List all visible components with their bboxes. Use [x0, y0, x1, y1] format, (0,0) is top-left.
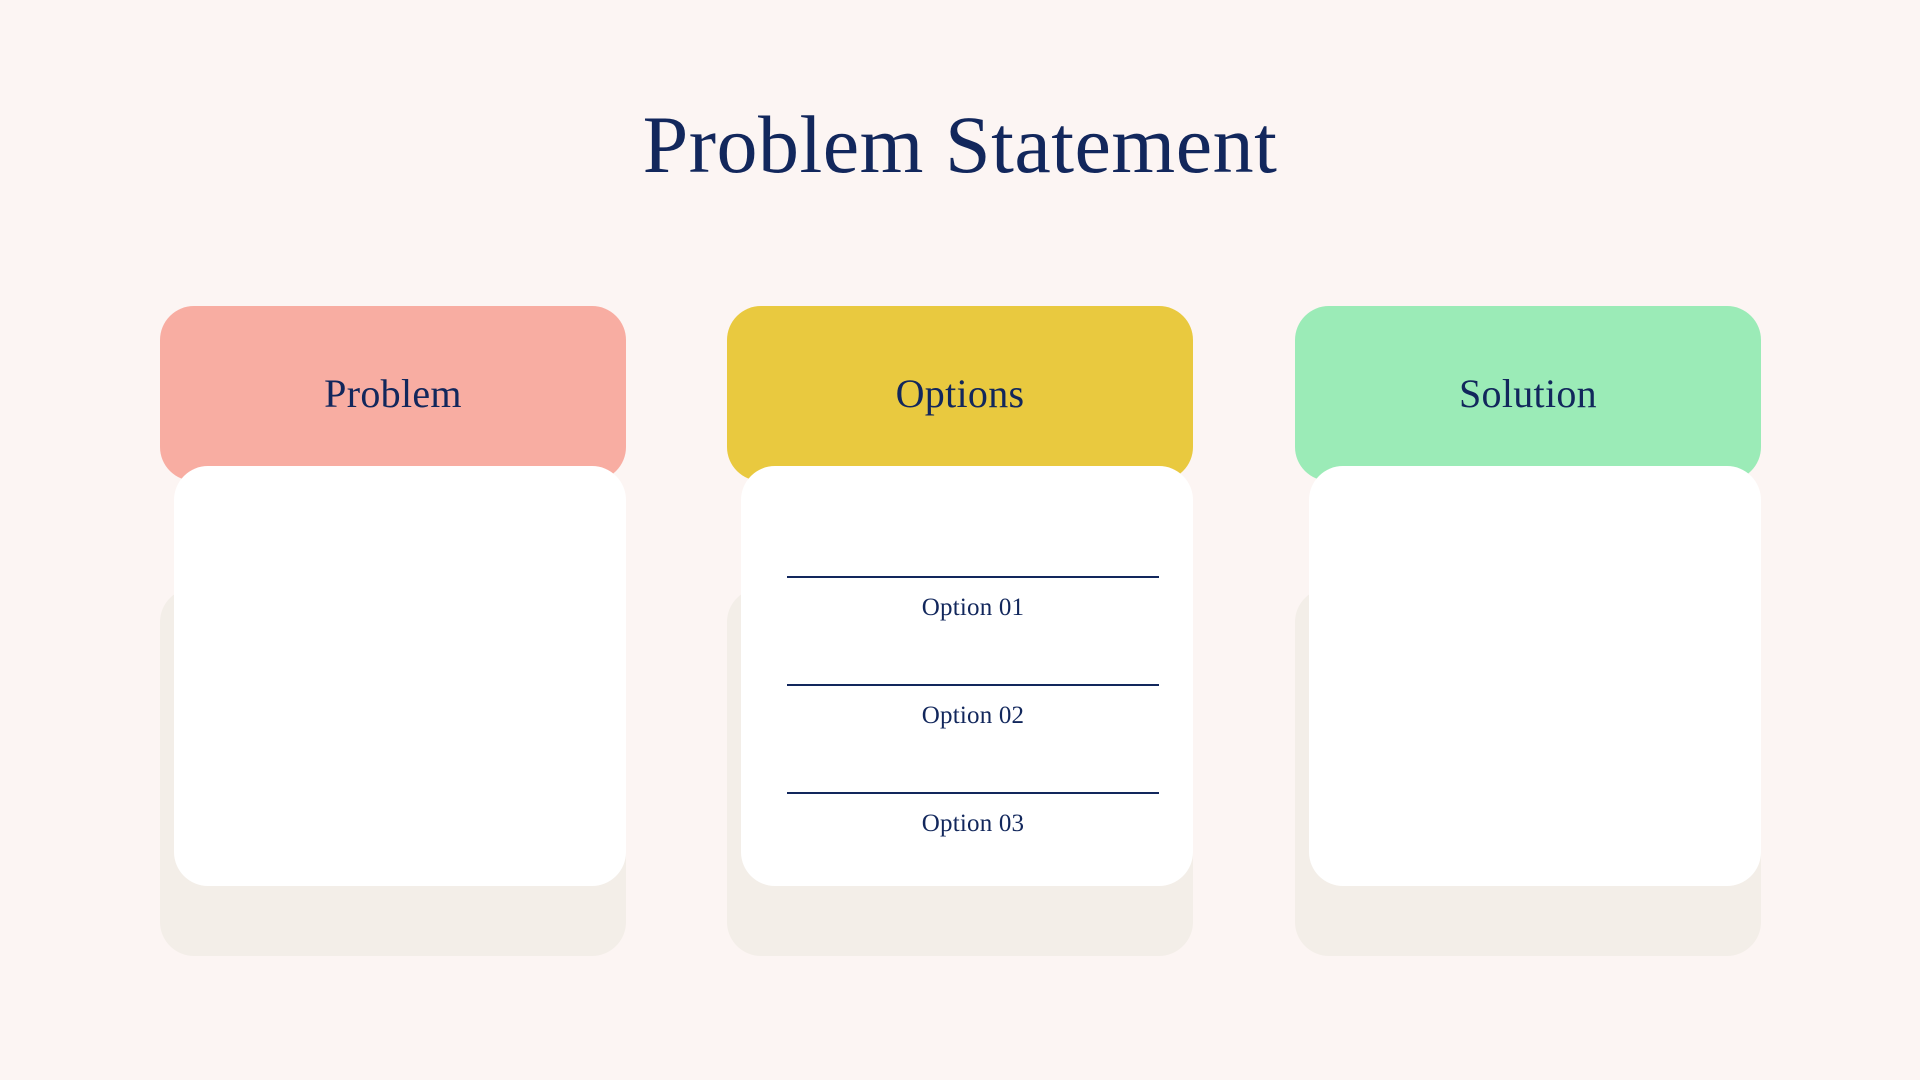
option-divider-rule [787, 576, 1159, 578]
list-item[interactable]: Option 01 [787, 576, 1159, 683]
card-problem[interactable]: Problem [160, 306, 626, 956]
card-header-options [727, 306, 1193, 481]
card-content-placeholder-solution [1309, 466, 1761, 886]
option-label: Option 03 [787, 810, 1159, 838]
option-divider-rule [787, 684, 1159, 686]
card-solution[interactable]: Solution [1295, 306, 1761, 956]
card-content-placeholder-problem [174, 466, 626, 886]
page-title: Problem Statement [0, 104, 1920, 186]
option-label: Option 02 [787, 702, 1159, 730]
card-header-solution [1295, 306, 1761, 481]
option-list: Option 01 Option 02 Option 03 [741, 466, 1193, 886]
card-row: Problem Option 01 Option 02 [0, 306, 1920, 956]
card-body-options[interactable]: Option 01 Option 02 Option 03 [741, 466, 1193, 886]
slide-canvas: Problem Statement Problem Option 01 [0, 0, 1920, 1080]
card-header-problem [160, 306, 626, 481]
card-body-problem[interactable] [174, 466, 626, 886]
list-item[interactable]: Option 02 [787, 684, 1159, 791]
option-label: Option 01 [787, 594, 1159, 622]
option-divider-rule [787, 792, 1159, 794]
card-body-solution[interactable] [1309, 466, 1761, 886]
card-options[interactable]: Option 01 Option 02 Option 03 Options [727, 306, 1193, 956]
list-item[interactable]: Option 03 [787, 792, 1159, 886]
